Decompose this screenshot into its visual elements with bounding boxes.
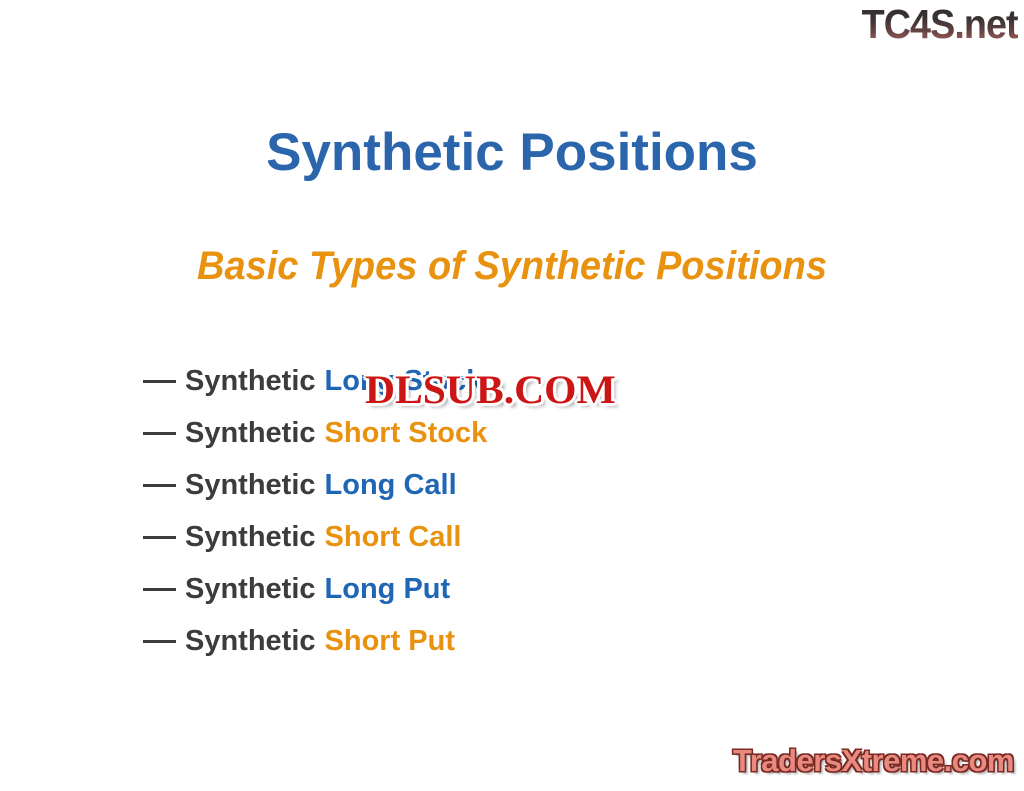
list-item-position-type: Short Stock	[325, 418, 488, 448]
list-item-prefix: Synthetic	[185, 574, 316, 604]
list-item-position-type: Short Call	[325, 522, 462, 552]
list-item-position-type: Short Put	[325, 626, 456, 656]
list-item-prefix: Synthetic	[185, 626, 316, 656]
list-item: SyntheticShort Call	[143, 511, 843, 563]
em-dash-bullet-icon	[143, 380, 176, 383]
slide-canvas: TC4S.net Synthetic Positions Basic Types…	[0, 0, 1024, 791]
list-item-prefix: Synthetic	[185, 366, 316, 396]
list-item-prefix: Synthetic	[185, 522, 316, 552]
list-item-position-type: Long Call	[325, 470, 457, 500]
em-dash-bullet-icon	[143, 588, 176, 591]
list-item-position-type: Long Put	[325, 574, 451, 604]
list-item-prefix: Synthetic	[185, 418, 316, 448]
em-dash-bullet-icon	[143, 484, 176, 487]
list-item-prefix: Synthetic	[185, 470, 316, 500]
dlsub-watermark: DLSUB.COM	[365, 369, 616, 411]
em-dash-bullet-icon	[143, 432, 176, 435]
list-item: SyntheticShort Put	[143, 615, 843, 667]
page-title: Synthetic Positions	[0, 124, 1024, 182]
tradersxtreme-footer-logo: TradersXtreme.com	[733, 744, 1014, 778]
em-dash-bullet-icon	[143, 536, 176, 539]
list-item: SyntheticLong Put	[143, 563, 843, 615]
page-subtitle: Basic Types of Synthetic Positions	[26, 243, 999, 289]
list-item: SyntheticShort Stock	[143, 407, 843, 459]
em-dash-bullet-icon	[143, 640, 176, 643]
tc4s-brand-logo: TC4S.net	[862, 2, 1018, 46]
list-item: SyntheticLong Call	[143, 459, 843, 511]
